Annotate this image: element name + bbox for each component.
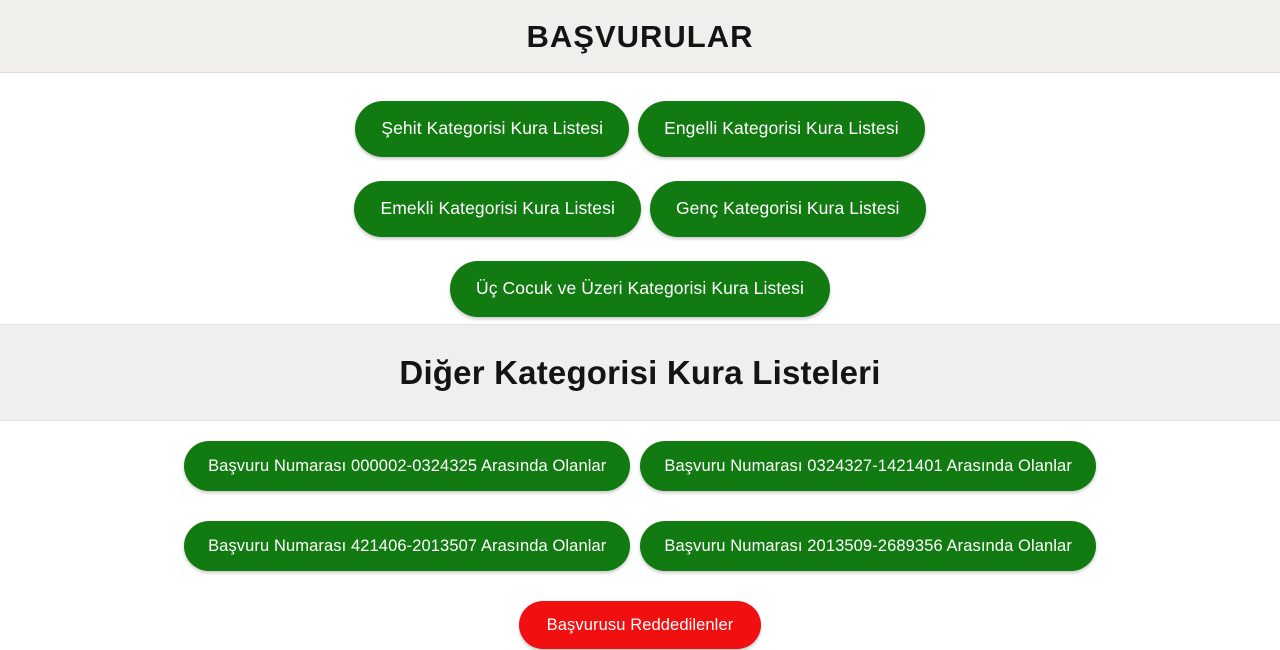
uc-cocuk-ve-uzeri-kategorisi-kura-listesi-button[interactable]: Üç Cocuk ve Üzeri Kategorisi Kura Listes… <box>450 261 830 317</box>
basvurusu-reddedilenler-button[interactable]: Başvurusu Reddedilenler <box>519 601 762 649</box>
basvuru-numarasi-421406-2013507-button[interactable]: Başvuru Numarası 421406-2013507 Arasında… <box>184 521 630 571</box>
button-row-1: Şehit Kategorisi Kura Listesi Engelli Ka… <box>0 101 1280 157</box>
basvurular-button-group: Şehit Kategorisi Kura Listesi Engelli Ka… <box>0 101 1280 317</box>
button-row-5: Başvuru Numarası 421406-2013507 Arasında… <box>0 521 1280 571</box>
basvuru-numarasi-000002-0324325-button[interactable]: Başvuru Numarası 000002-0324325 Arasında… <box>184 441 630 491</box>
button-row-3: Üç Cocuk ve Üzeri Kategorisi Kura Listes… <box>0 261 1280 317</box>
diger-kategorisi-button-group: Başvuru Numarası 000002-0324325 Arasında… <box>0 441 1280 649</box>
page-root: BAŞVURULAR Şehit Kategorisi Kura Listesi… <box>0 0 1280 650</box>
section-title-diger-kategorisi: Diğer Kategorisi Kura Listeleri <box>399 356 880 389</box>
basvuru-numarasi-2013509-2689356-button[interactable]: Başvuru Numarası 2013509-2689356 Arasınd… <box>640 521 1096 571</box>
section-header-basvurular: BAŞVURULAR <box>0 0 1280 73</box>
button-row-6: Başvurusu Reddedilenler <box>0 601 1280 649</box>
sehit-kategorisi-kura-listesi-button[interactable]: Şehit Kategorisi Kura Listesi <box>355 101 629 157</box>
section-header-diger-kategorisi: Diğer Kategorisi Kura Listeleri <box>0 324 1280 421</box>
button-row-2: Emekli Kategorisi Kura Listesi Genç Kate… <box>0 181 1280 237</box>
page-title: BAŞVURULAR <box>527 21 754 52</box>
basvuru-numarasi-0324327-1421401-button[interactable]: Başvuru Numarası 0324327-1421401 Arasınd… <box>640 441 1096 491</box>
genc-kategorisi-kura-listesi-button[interactable]: Genç Kategorisi Kura Listesi <box>650 181 926 237</box>
emekli-kategorisi-kura-listesi-button[interactable]: Emekli Kategorisi Kura Listesi <box>354 181 640 237</box>
button-row-4: Başvuru Numarası 000002-0324325 Arasında… <box>0 441 1280 491</box>
engelli-kategorisi-kura-listesi-button[interactable]: Engelli Kategorisi Kura Listesi <box>638 101 925 157</box>
